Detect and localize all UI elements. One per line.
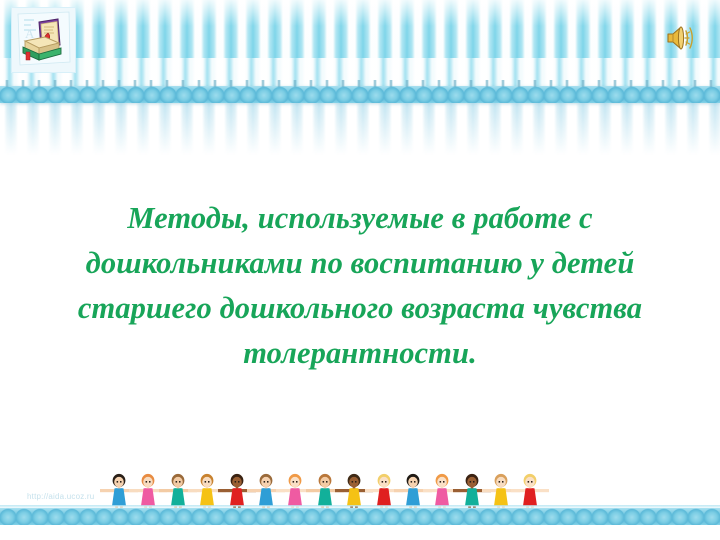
- presentation-slide: A Методы, используемы: [0, 0, 720, 540]
- header-bead-strip: [0, 86, 720, 103]
- header-curtain-band: [0, 0, 720, 86]
- page-title: Методы, используемые в работе с дошкольн…: [50, 196, 670, 376]
- footer-bead-strip: [0, 508, 720, 525]
- speaker-icon[interactable]: [665, 23, 699, 53]
- header-stripe-fade: [0, 103, 720, 155]
- books-clipart-icon: A: [11, 7, 76, 73]
- watermark-url: http://aida.ucoz.ru: [27, 492, 94, 501]
- title-block: Методы, используемые в работе с дошкольн…: [50, 196, 670, 376]
- svg-text:A: A: [25, 26, 35, 41]
